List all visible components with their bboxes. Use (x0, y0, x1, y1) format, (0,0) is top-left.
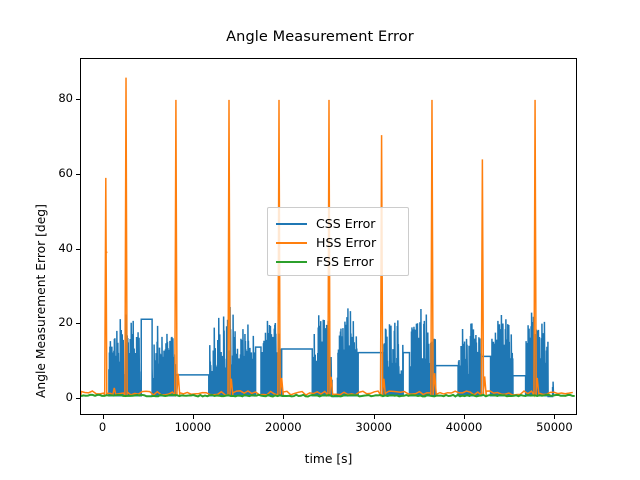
y-tick-label: 80 (33, 91, 73, 105)
y-tick-label: 0 (33, 390, 73, 404)
figure-canvas: Angle Measurement Error Angle Measuremen… (0, 0, 640, 480)
x-tick-mark (374, 415, 375, 419)
x-tick-label: 40000 (429, 420, 499, 434)
legend-label-hss: HSS Error (316, 233, 376, 252)
y-tick-mark (76, 398, 80, 399)
y-tick-label: 40 (33, 241, 73, 255)
x-tick-label: 20000 (248, 420, 318, 434)
y-tick-label: 60 (33, 166, 73, 180)
legend-item-fss: FSS Error (276, 252, 400, 271)
legend: CSS Error HSS Error FSS Error (267, 207, 409, 276)
y-tick-mark (76, 249, 80, 250)
x-axis-label: time [s] (80, 452, 577, 466)
legend-swatch-css (276, 223, 307, 225)
x-tick-label: 50000 (519, 420, 589, 434)
chart-title: Angle Measurement Error (0, 29, 640, 45)
y-tick-label: 20 (33, 315, 73, 329)
y-tick-mark (76, 174, 80, 175)
x-tick-mark (103, 415, 104, 419)
legend-swatch-hss (276, 242, 307, 244)
x-tick-label: 30000 (339, 420, 409, 434)
x-tick-mark (464, 415, 465, 419)
legend-item-css: CSS Error (276, 214, 400, 233)
x-tick-mark (193, 415, 194, 419)
x-tick-label: 0 (68, 420, 138, 434)
x-tick-label: 10000 (158, 420, 228, 434)
x-tick-mark (283, 415, 284, 419)
y-axis-label-container: Angle Measurement Error [deg] (18, 58, 38, 415)
legend-label-css: CSS Error (316, 214, 375, 233)
legend-swatch-fss (276, 261, 307, 263)
y-tick-mark (76, 99, 80, 100)
x-tick-mark (554, 415, 555, 419)
legend-item-hss: HSS Error (276, 233, 400, 252)
y-axis-label: Angle Measurement Error [deg] (34, 204, 48, 398)
y-tick-mark (76, 323, 80, 324)
legend-label-fss: FSS Error (316, 252, 374, 271)
